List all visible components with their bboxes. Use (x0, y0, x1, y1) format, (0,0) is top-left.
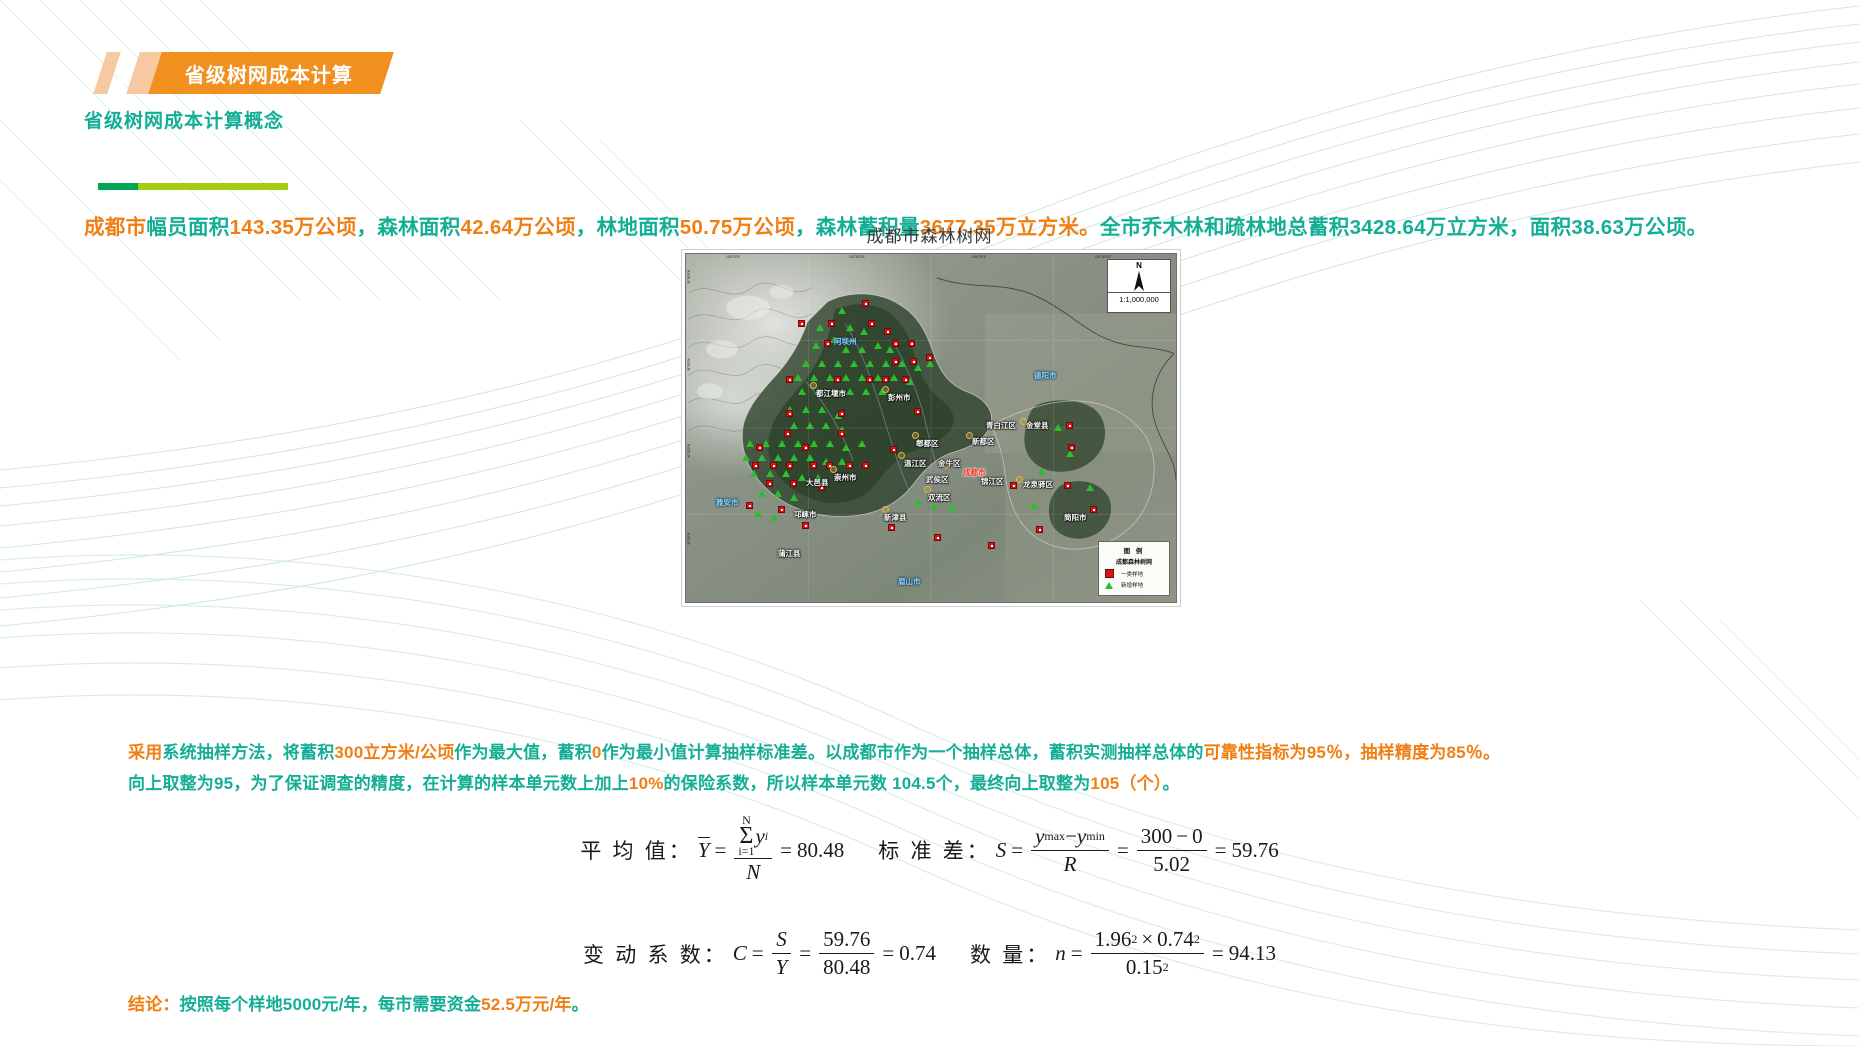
summation-icon: N Σ i=1 (738, 815, 754, 857)
underline-segment-light (138, 183, 288, 190)
graticule-left-label-0: 31°30'0"N (687, 270, 691, 284)
map-label-2: 雅安市 (716, 497, 739, 508)
formula-mean-result: 80.48 (797, 838, 844, 863)
map-point-class1-plot (798, 320, 805, 327)
map-point-new-plot (826, 440, 834, 447)
ymin-subscript: min (1086, 829, 1105, 844)
map-point-new-plot (758, 454, 766, 461)
map-point-new-plot (812, 342, 820, 349)
graticule-left-label-1: 31°0'0"N (687, 359, 691, 371)
map-point-class1-plot (770, 462, 777, 469)
numerator-subscript: i (765, 829, 768, 844)
map-point-class1-plot (1066, 422, 1073, 429)
map-label-20: 新津县 (884, 512, 907, 523)
map-point-new-plot (810, 374, 818, 381)
legend-item-new: 新增样地 (1103, 581, 1165, 589)
map-point-new-plot (782, 470, 790, 477)
map-point-new-plot (858, 346, 866, 353)
map-point-new-plot (1054, 424, 1062, 431)
graticule-top-label-1: 103°30'0"E (849, 255, 865, 259)
map-label-11: 金牛区 (938, 458, 961, 469)
map-point-new-plot (754, 510, 762, 517)
map-point-new-plot (746, 440, 754, 447)
legend-item-label: 一类样地 (1121, 570, 1143, 578)
graticule-top-label-0: 103°0'0"E (726, 255, 740, 259)
map-point-new-plot (860, 328, 868, 335)
formula-block: 平 均 值： Y = N Σ i=1 yi N = 80.48 标 准 差： S (0, 815, 1859, 980)
map-point-new-plot (806, 454, 814, 461)
map-label-19: 邛崃市 (794, 509, 817, 520)
formula-row-1: 平 均 值： Y = N Σ i=1 yi N = 80.48 标 准 差： S (0, 815, 1859, 885)
map-point-new-plot (926, 360, 934, 367)
formula-mean: 平 均 值： Y = N Σ i=1 yi N = 80.48 (580, 815, 844, 885)
underline-segment-dark (98, 183, 138, 190)
map-point-new-plot (874, 374, 882, 381)
map-point-new-plot (858, 440, 866, 447)
conclusion-segment-3: 。 (572, 995, 589, 1014)
map-point-class1-plot (802, 444, 809, 451)
ymin-symbol: y (1077, 824, 1086, 849)
map-point-class1-plot (926, 354, 933, 361)
formula-stdev: 标 准 差： S = ymax − ymin R = 300 − 0 5.02 (878, 824, 1278, 877)
map-point-class1-plot (1010, 482, 1017, 489)
legend-item-label: 新增样地 (1121, 581, 1143, 589)
map-label-0: 阿坝州 (834, 336, 857, 347)
map-point-new-plot (774, 454, 782, 461)
map-point-new-plot (882, 360, 890, 367)
equals-sign: = (780, 838, 792, 863)
map-point-class1-plot (756, 444, 763, 451)
map-point-class1-plot (892, 358, 899, 365)
map-point-new-plot (898, 360, 906, 367)
formula-stdev-label: 标 准 差： (878, 835, 991, 865)
north-letter: N (1136, 261, 1142, 270)
map-point-new-plot (806, 422, 814, 429)
map-label-16: 崇州市 (834, 472, 857, 483)
formula-mean-denominator: N (742, 859, 764, 885)
map-point-new-plot (846, 388, 854, 395)
map-point-new-plot (794, 374, 802, 381)
formula-stdev-symbolic-fraction: ymax − ymin R (1031, 824, 1109, 877)
n-num-a: 1.96 (1095, 927, 1132, 952)
numerator-symbol: y (755, 824, 764, 849)
map-title: 成都市森林树网 (0, 222, 1859, 247)
equals-sign: = (1215, 838, 1227, 863)
map-point-class1-plot (766, 480, 773, 487)
map-point-class1-plot (786, 410, 793, 417)
banner-title-text: 省级树网成本计算 (185, 59, 353, 88)
map-label-6: 青白江区 (986, 420, 1016, 431)
map-point-new-plot (850, 360, 858, 367)
ymax-subscript: max (1044, 829, 1065, 844)
map-point-new-plot (874, 342, 882, 349)
formula-stdev-result: 59.76 (1231, 838, 1278, 863)
map-point-class1-plot (838, 430, 845, 437)
methodology-note-line-1: 向上取整为95，为了保证调查的精度，在计算的样本单元数上加上10%的保险系数，所… (128, 768, 1778, 799)
map-point-new-plot (774, 490, 782, 497)
map-label-22: 蒲江县 (778, 548, 801, 559)
map-point-new-plot (862, 388, 870, 395)
conclusion-line: 结论：按照每个样地5000元/年，每市需要资金52.5万元/年。 (128, 990, 589, 1015)
page-title-banner: 省级树网成本计算 (100, 52, 387, 94)
note-1-segment-5: 。 (1163, 774, 1180, 793)
note-1-segment-0: 向上取整为95 (128, 774, 233, 793)
map-point-class1-plot (1036, 526, 1043, 533)
map-point-new-plot (818, 360, 826, 367)
map-point-class1-plot (884, 328, 891, 335)
map-point-new-plot (762, 440, 770, 447)
map-point-class1-plot (988, 542, 995, 549)
graticule-left-label-2: 30°30'0"N (687, 444, 691, 458)
map-point-new-plot (930, 502, 938, 509)
map-point-class1-plot (910, 358, 917, 365)
legend-title: 图 例 (1103, 545, 1165, 555)
map-point-new-plot (826, 374, 834, 381)
cv-numerator-symbolic: S (772, 927, 791, 954)
map-point-new-plot (790, 494, 798, 501)
conclusion-segment-2: 52.5万元/年 (481, 995, 571, 1014)
map-point-class1-plot (824, 340, 831, 347)
n-denominator: 0.152 (1122, 954, 1173, 980)
stdev-min-value: 0 (1192, 824, 1203, 849)
legend-subtitle: 成都森林树网 (1103, 557, 1165, 566)
banner-body: 省级树网成本计算 (148, 52, 394, 94)
formula-n-result: 94.13 (1229, 941, 1276, 966)
map-label-21: 简阳市 (1064, 512, 1087, 523)
map-point-new-plot (858, 374, 866, 381)
map-point-new-plot (750, 470, 758, 477)
map-point-class1-plot (746, 502, 753, 509)
map-point-class1-plot (882, 376, 889, 383)
map-legend: 图 例 成都森林树网 一类样地 新增样地 (1098, 541, 1170, 596)
note-1-segment-1: ，为了保证调查的精度，在计算的样本单元数上加上 (233, 774, 629, 793)
graticule-left-label-3: 30°0'0"N (687, 533, 691, 545)
equals-sign: = (1117, 838, 1129, 863)
map-figure: 阿坝州德阳市雅安市眉山市都江堰市彭州市青白江区金堂县新都区郫都区温江区金牛区武侯… (681, 249, 1181, 607)
map-point-class1-plot (784, 430, 791, 437)
map-point-class1-plot (786, 462, 793, 469)
legend-item-class1: 一类样地 (1103, 569, 1165, 578)
map-point-new-plot (1066, 450, 1074, 457)
map-point-new-plot (802, 406, 810, 413)
note-0-segment-5: 作为最小值计算抽样标准差。以成都市作为一个抽样总体，蓄积实测抽样总体的 (602, 743, 1204, 762)
map-point-class1-plot (834, 376, 841, 383)
n-num-b-exp: 2 (1194, 932, 1200, 947)
map-point-class1-plot (752, 462, 759, 469)
minus-sign: − (1065, 824, 1077, 849)
map-label-1: 德阳市 (1034, 370, 1057, 381)
n-den-exp: 2 (1163, 960, 1169, 975)
sigma-glyph: Σ (739, 826, 753, 846)
formula-mean-numerator: N Σ i=1 yi (734, 815, 772, 859)
formula-n-var: n (1055, 941, 1066, 966)
note-1-segment-2: 10% (629, 774, 664, 793)
formula-cv-label: 变 动 系 数： (583, 939, 728, 969)
formula-cv: 变 动 系 数： C = S Y = 59.76 80.48 = 0.74 (583, 927, 936, 980)
map-label-17: 大邑县 (806, 477, 829, 488)
map-point-new-plot (846, 324, 854, 331)
map-frame: 阿坝州德阳市雅安市眉山市都江堰市彭州市青白江区金堂县新都区郫都区温江区金牛区武侯… (685, 253, 1177, 603)
ymax-symbol: y (1035, 824, 1044, 849)
equals-sign: = (1212, 941, 1224, 966)
map-point-new-plot (866, 360, 874, 367)
map-label-9: 郫都区 (916, 438, 939, 449)
stdev-max-value: 300 (1141, 824, 1173, 849)
stdev-denominator-symbolic: R (1060, 851, 1081, 877)
map-point-new-plot (890, 374, 898, 381)
n-den-value: 0.15 (1126, 955, 1163, 980)
equals-sign: = (882, 941, 894, 966)
equals-sign: = (1011, 838, 1023, 863)
map-label-10: 温江区 (904, 458, 927, 469)
formula-n-label: 数 量： (970, 939, 1050, 969)
map-point-new-plot (770, 514, 778, 521)
map-point-new-plot (1086, 484, 1094, 491)
map-point-class1-plot (862, 300, 869, 307)
map-label-15: 龙泉驿区 (1023, 479, 1053, 490)
note-0-segment-4: 0 (592, 743, 602, 762)
subtitle-underline (98, 183, 288, 190)
map-point-class1-plot (908, 340, 915, 347)
formula-stdev-var: S (996, 838, 1007, 863)
map-label-12: 武侯区 (926, 474, 949, 485)
map-label-7: 金堂县 (1026, 420, 1049, 431)
formula-n-fraction: 1.962 × 0.742 0.152 (1091, 927, 1204, 980)
map-point-class1-plot (790, 480, 797, 487)
minus-sign: − (1176, 824, 1188, 849)
times-sign: × (1141, 927, 1153, 952)
map-north-arrow-box: N 1:1,000,000 (1107, 259, 1171, 313)
equals-sign: = (799, 941, 811, 966)
note-0-segment-6: 可靠性指标为95％，抽样精度为85％。 (1204, 743, 1501, 762)
map-point-class1-plot (892, 340, 899, 347)
map-point-class1-plot (888, 524, 895, 531)
map-point-class1-plot (838, 410, 845, 417)
green-triangle-icon (1103, 582, 1115, 589)
map-point-new-plot (798, 474, 806, 481)
map-label-8: 新都区 (972, 436, 995, 447)
cv-denominator-symbolic: Y (772, 954, 792, 980)
cv-denominator-numeric: 80.48 (819, 954, 874, 980)
north-arrow-icon (1131, 270, 1147, 292)
n-numerator: 1.962 × 0.742 (1091, 927, 1204, 954)
equals-sign: = (715, 838, 727, 863)
formula-cv-var: C (733, 941, 747, 966)
map-point-district-center (1016, 476, 1023, 483)
map-point-class1-plot (890, 446, 897, 453)
map-point-class1-plot (1090, 506, 1097, 513)
note-1-segment-4: 105（个） (1090, 774, 1162, 793)
formula-mean-fraction: N Σ i=1 yi N (734, 815, 772, 885)
map-label-4: 都江堰市 (816, 388, 846, 399)
map-point-class1-plot (778, 506, 785, 513)
map-point-new-plot (886, 346, 894, 353)
note-1-segment-3: 的保险系数，所以样本单元数 104.5个，最终向上取整为 (664, 774, 1091, 793)
map-label-3: 眉山市 (898, 576, 921, 587)
methodology-notes: 采用系统抽样方法，将蓄积300立方米/公顷作为最大值，蓄积0作为最小值计算抽样标… (128, 737, 1778, 799)
map-point-new-plot (842, 444, 850, 451)
stdev-numerator-numeric: 300 − 0 (1137, 824, 1207, 851)
formula-mean-label: 平 均 值： (580, 835, 693, 865)
map-point-new-plot (1038, 468, 1046, 475)
n-num-b: 0.74 (1157, 927, 1194, 952)
map-point-new-plot (766, 470, 774, 477)
map-point-new-plot (778, 440, 786, 447)
map-label-5: 彭州市 (888, 392, 911, 403)
map-point-class1-plot (862, 462, 869, 469)
map-point-new-plot (794, 440, 802, 447)
map-point-class1-plot (934, 534, 941, 541)
map-point-new-plot (834, 360, 842, 367)
note-0-segment-3: 作为最大值，蓄积 (454, 743, 592, 762)
map-point-new-plot (1030, 502, 1038, 509)
equals-sign: = (1071, 941, 1083, 966)
cv-numerator-numeric: 59.76 (819, 927, 874, 954)
map-point-new-plot (816, 324, 824, 331)
map-point-new-plot (838, 458, 846, 465)
stdev-denominator-numeric: 5.02 (1149, 851, 1194, 877)
note-0-segment-1: 系统抽样方法，将蓄积 (162, 743, 334, 762)
note-0-segment-0: 采用 (128, 743, 162, 762)
map-point-new-plot (758, 490, 766, 497)
map-point-new-plot (842, 374, 850, 381)
note-0-segment-2: 300立方米/公顷 (334, 743, 454, 762)
map-point-new-plot (948, 504, 956, 511)
map-point-class1-plot (810, 462, 817, 469)
graticule-top-label-2: 104°0'0"E (972, 255, 986, 259)
map-point-class1-plot (786, 376, 793, 383)
n-num-a-exp: 2 (1131, 932, 1137, 947)
equals-sign: = (752, 941, 764, 966)
map-point-new-plot (798, 388, 806, 395)
map-point-new-plot (818, 406, 826, 413)
map-point-class1-plot (1064, 482, 1071, 489)
conclusion-segment-1: 按照每个样地5000元/年，每市需要资金 (180, 995, 482, 1014)
map-point-new-plot (914, 364, 922, 371)
map-point-class1-plot (846, 462, 853, 469)
map-point-new-plot (810, 440, 818, 447)
section-subtitle: 省级树网成本计算概念 (84, 106, 284, 133)
red-square-icon (1103, 569, 1115, 578)
map-point-class1-plot (866, 376, 873, 383)
formula-cv-symbolic-fraction: S Y (772, 927, 792, 980)
map-scale-text: 1:1,000,000 (1108, 292, 1170, 304)
formula-stdev-numeric-fraction: 300 − 0 5.02 (1137, 824, 1207, 877)
map-point-class1-plot (914, 408, 921, 415)
sum-lower-limit: i=1 (738, 846, 754, 857)
formula-row-2: 变 动 系 数： C = S Y = 59.76 80.48 = 0.74 数 … (0, 927, 1859, 980)
map-point-new-plot (742, 454, 750, 461)
map-point-new-plot (790, 454, 798, 461)
map-label-18: 双流区 (928, 492, 951, 503)
map-point-new-plot (914, 498, 922, 505)
conclusion-segment-0: 结论： (128, 995, 180, 1014)
map-point-class1-plot (868, 320, 875, 327)
formula-cv-result: 0.74 (899, 941, 936, 966)
stdev-numerator-symbolic: ymax − ymin (1031, 824, 1109, 851)
map-label-14: 锦江区 (981, 476, 1004, 487)
map-point-class1-plot (902, 376, 909, 383)
map-point-new-plot (790, 422, 798, 429)
map-point-new-plot (842, 346, 850, 353)
map-point-new-plot (822, 422, 830, 429)
formula-sample-count: 数 量： n = 1.962 × 0.742 0.152 = 94.13 (970, 927, 1276, 980)
map-point-class1-plot (802, 522, 809, 529)
formula-cv-numeric-fraction: 59.76 80.48 (819, 927, 874, 980)
map-point-class1-plot (828, 320, 835, 327)
map-point-class1-plot (1068, 444, 1075, 451)
formula-mean-var: Y (698, 838, 710, 863)
map-point-new-plot (838, 307, 846, 314)
map-point-new-plot (802, 360, 810, 367)
methodology-note-line-0: 采用系统抽样方法，将蓄积300立方米/公顷作为最大值，蓄积0作为最小值计算抽样标… (128, 737, 1778, 768)
